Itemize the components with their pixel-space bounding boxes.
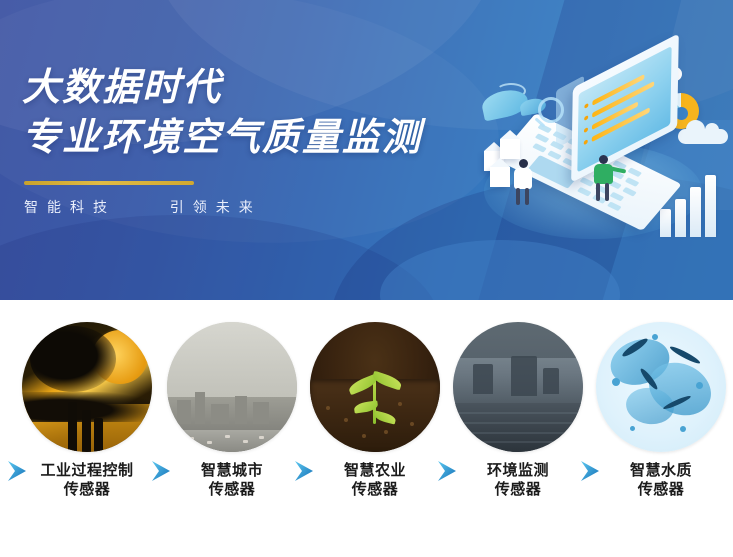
isometric-illustration bbox=[460, 55, 733, 250]
banner-subtitle: 智能科技 引领未来 bbox=[24, 197, 262, 217]
headline-block: 大数据时代 专业环境空气质量监测 bbox=[22, 68, 492, 156]
thumbnail-dark-industrial-haze bbox=[453, 322, 583, 452]
label-line-2: 传感器 bbox=[445, 480, 591, 499]
headline-line-1: 大数据时代 bbox=[22, 68, 492, 106]
label-line-1: 智慧水质 bbox=[588, 461, 733, 480]
promotional-banner-page: 大数据时代 专业环境空气质量监测 智能科技 引领未来 bbox=[0, 0, 733, 557]
label-line-2: 传感器 bbox=[159, 480, 305, 499]
sensor-card-label: 工业过程控制 传感器 bbox=[14, 461, 160, 499]
sensor-card-smart-water-quality[interactable]: 智慧水质 传感器 bbox=[588, 322, 733, 499]
sensor-card-label: 智慧水质 传感器 bbox=[588, 461, 733, 499]
package-cube-2 bbox=[500, 139, 520, 159]
gold-divider bbox=[24, 181, 194, 185]
label-line-2: 传感器 bbox=[302, 480, 448, 499]
person-torso bbox=[514, 168, 532, 189]
thumbnail-hazy-grey-cityscape bbox=[167, 322, 297, 452]
label-line-1: 智慧城市 bbox=[159, 461, 305, 480]
person-leg-right bbox=[525, 188, 529, 205]
sensor-category-row: 工业过程控制 传感器 智慧城市 bbox=[0, 300, 733, 557]
cloud-icon-2 bbox=[678, 129, 728, 144]
magnifier-icon bbox=[538, 97, 564, 123]
sensor-card-environment-monitoring[interactable]: 环境监测 传感器 bbox=[445, 322, 591, 499]
sensor-card-industrial[interactable]: 工业过程控制 传感器 bbox=[14, 322, 160, 499]
thumbnail-blue-water-splash bbox=[596, 322, 726, 452]
person-head bbox=[519, 159, 528, 168]
person-leg-right bbox=[605, 183, 609, 201]
label-line-1: 智慧农业 bbox=[302, 461, 448, 480]
sensor-card-label: 智慧农业 传感器 bbox=[302, 461, 448, 499]
sensor-card-smart-agriculture[interactable]: 智慧农业 传感器 bbox=[302, 322, 448, 499]
sensor-card-label: 智慧城市 传感器 bbox=[159, 461, 305, 499]
thumbnail-green-sprout-in-soil bbox=[310, 322, 440, 452]
label-line-1: 环境监测 bbox=[445, 461, 591, 480]
person-leg-left bbox=[596, 183, 600, 201]
wave-decoration-5 bbox=[0, 215, 440, 300]
sensor-card-label: 环境监测 传感器 bbox=[445, 461, 591, 499]
hero-banner: 大数据时代 专业环境空气质量监测 智能科技 引领未来 bbox=[0, 0, 733, 300]
person-leg-left bbox=[516, 188, 520, 205]
person-head bbox=[599, 155, 608, 164]
thumbnail-industrial-smokestack-sunset bbox=[22, 322, 152, 452]
label-line-2: 传感器 bbox=[588, 480, 733, 499]
package-cube-3 bbox=[490, 167, 510, 187]
sensor-card-smart-city[interactable]: 智慧城市 传感器 bbox=[159, 322, 305, 499]
label-line-1: 工业过程控制 bbox=[14, 461, 160, 480]
headline-line-2: 专业环境空气质量监测 bbox=[22, 118, 492, 156]
label-line-2: 传感器 bbox=[14, 480, 160, 499]
